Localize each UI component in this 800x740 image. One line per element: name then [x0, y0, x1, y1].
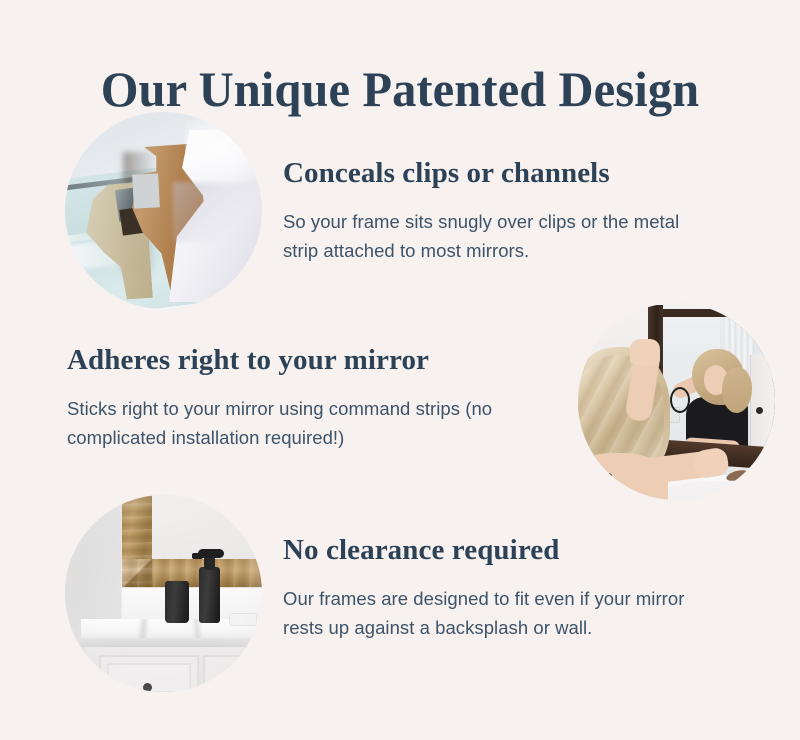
reflection-wall-hook	[670, 387, 690, 413]
molding-channel-notch	[132, 173, 160, 208]
feature-heading: Conceals clips or channels	[283, 156, 713, 190]
feature-text-adheres-to-mirror: Adheres right to your mirror Sticks righ…	[67, 303, 547, 452]
feature-heading: No clearance required	[283, 533, 713, 567]
paper-fold-shading	[173, 182, 262, 242]
feature-row-conceals-clips: Conceals clips or channels So your frame…	[0, 112, 800, 312]
woman-installing-mirror-frame-photo	[578, 303, 775, 500]
feature-body: Sticks right to your mirror using comman…	[67, 394, 547, 452]
feature-row-no-clearance: No clearance required Our frames are des…	[0, 495, 800, 695]
bathroom-vanity-wood-framed-mirror-photo	[65, 495, 262, 692]
feature-row-adheres-to-mirror: Adheres right to your mirror Sticks righ…	[0, 303, 800, 503]
feature-heading: Adheres right to your mirror	[67, 343, 547, 377]
feature-text-no-clearance: No clearance required Our frames are des…	[283, 495, 713, 642]
photo-vignette	[65, 495, 262, 692]
patented-design-infographic: Our Unique Patented Design Conceals clip…	[0, 0, 800, 740]
feature-body: So your frame sits snugly over clips or …	[283, 207, 713, 265]
photo-highlight-glow	[185, 120, 262, 190]
frame-molding-cross-section-photo	[65, 112, 262, 309]
feature-body: Our frames are designed to fit even if y…	[283, 584, 713, 642]
feature-text-conceals-clips: Conceals clips or channels So your frame…	[283, 112, 713, 265]
page-title: Our Unique Patented Design	[12, 60, 788, 118]
reflection-door-knob	[756, 407, 763, 414]
woman-raised-hand	[630, 339, 660, 365]
